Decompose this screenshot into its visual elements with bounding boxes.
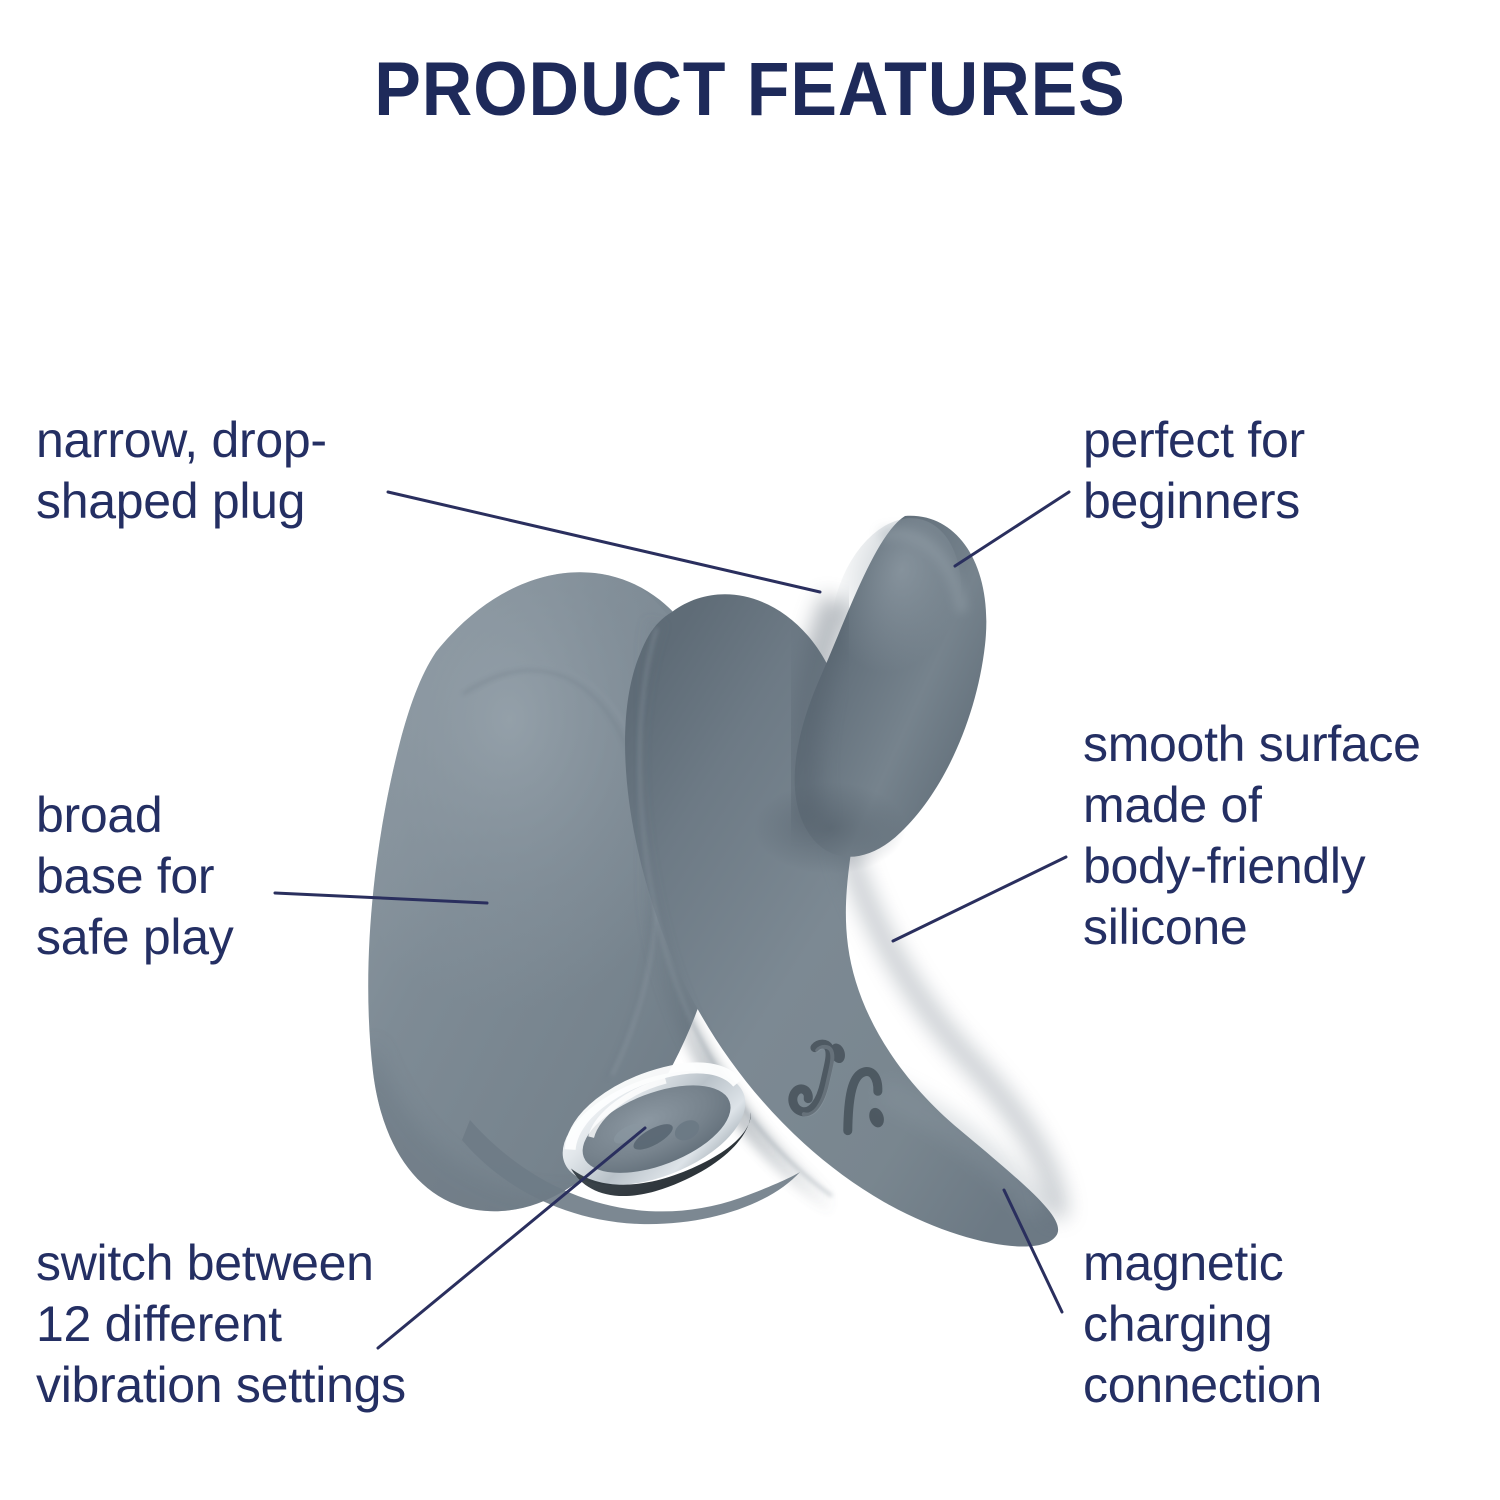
callout-switch-between-vibration-settings: switch between 12 different vibration se… bbox=[36, 1233, 406, 1416]
product-features-infographic: PRODUCT FEATURES bbox=[0, 0, 1500, 1500]
leader-line-silicone bbox=[893, 857, 1066, 941]
callout-perfect-for-beginners: perfect for beginners bbox=[1083, 410, 1305, 532]
plug-neck-shadow bbox=[754, 782, 906, 874]
callout-narrow-drop-shaped-plug: narrow, drop- shaped plug bbox=[36, 410, 327, 532]
leader-line-beginners bbox=[955, 492, 1069, 566]
callout-smooth-surface-silicone: smooth surface made of body-friendly sil… bbox=[1083, 714, 1421, 958]
callout-broad-base-for-safe-play: broad base for safe play bbox=[36, 785, 233, 968]
callout-magnetic-charging-connection: magnetic charging connection bbox=[1083, 1233, 1322, 1416]
